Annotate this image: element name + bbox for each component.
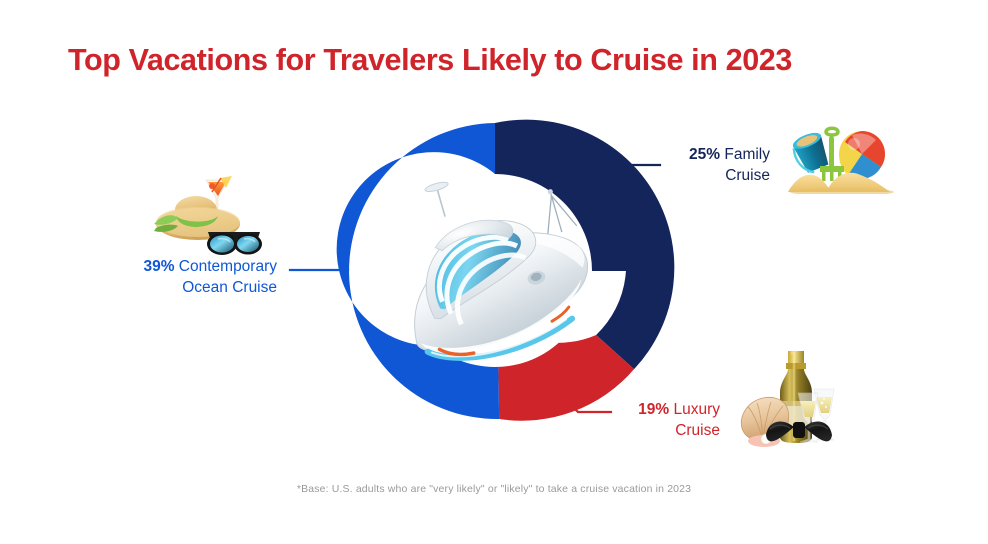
callout-family-pct: 25% [689,146,720,163]
callout-family-cruise[interactable]: 25% Family Cruise [666,144,770,186]
callout-contemporary-line1: Contemporary [174,258,277,275]
callout-luxury-pct: 19% [638,401,669,418]
infographic-canvas: Top Vacations for Travelers Likely to Cr… [0,0,988,544]
callout-family-line2: Cruise [725,167,770,184]
callout-luxury-line1: Luxury [669,401,720,418]
callout-family-line1: Family [720,146,770,163]
callout-luxury-line2: Cruise [675,422,720,439]
footnote-text: *Base: U.S. adults who are "very likely"… [0,483,988,495]
callout-luxury-cruise[interactable]: 19% Luxury Cruise [618,399,720,441]
callout-contemporary-ocean-cruise[interactable]: 39% Contemporary Ocean Cruise [103,256,277,298]
callout-contemporary-line2: Ocean Cruise [182,279,277,296]
callout-contemporary-pct: 39% [143,258,174,275]
